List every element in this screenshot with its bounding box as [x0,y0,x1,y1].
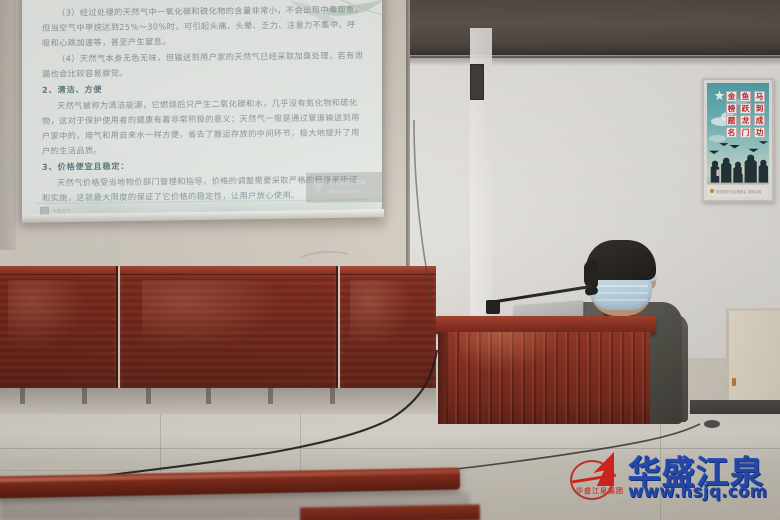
wall-socket[interactable] [470,64,484,100]
projection-screen: 天然气的特性 （3）经过处理的天然气中一氧化碳和硫化物的含量非常小，不会出现中毒… [22,0,382,221]
poster-calligraphy: 金 榜 题 名 鱼 跃 龙 门 马 到 成 功 [726,91,765,138]
projector-osd-overlay: 打开投影机菜单 确认键 / 取消键 [306,172,382,203]
scene-photo: 天然气的特性 （3）经过处理的天然气中一氧化碳和硫化物的含量非常小，不会出现中毒… [0,0,780,520]
poster-char: 鱼 [740,91,751,102]
door-handle-icon[interactable] [732,378,736,386]
graduates-silhouette-icon [707,138,769,184]
slide-paragraph-4: （4）天然气本身无色无味，但输送到用户家的天然气已经采取加臭处理，若有泄漏也会比… [42,48,364,82]
poster-char: 马 [754,91,765,102]
poster-char: 到 [754,103,765,114]
poster-char: 门 [740,127,751,138]
projector-menu-icon [312,180,325,195]
wall-poster: 金 榜 题 名 鱼 跃 龙 门 马 到 成 功 [707,83,769,197]
poster-char: 功 [754,127,765,138]
poster-column: 鱼 跃 龙 门 [740,91,751,138]
caption-bullet-icon [710,189,714,193]
wall-poster-frame: 金 榜 题 名 鱼 跃 龙 门 马 到 成 功 [702,78,774,202]
poster-char: 名 [726,127,737,138]
osd-line-2: 确认键 / 取消键 [330,188,366,194]
poster-char: 成 [754,115,765,126]
poster-column: 马 到 成 功 [754,91,765,138]
watermark: 华盛江泉集团 华盛江泉 www.hsjq.com [566,446,778,512]
left-wall-edge [0,0,16,250]
slide-body-2: 天然气被称为清洁能源，它燃烧后只产生二氧化碳和水，几乎没有氮化物和硫化物，这对于… [42,95,364,159]
company-logo-icon: 华盛江泉集团 [566,450,628,504]
watermark-url: www.hsjq.com [628,482,767,501]
poster-char: 题 [726,115,737,126]
floor-tile-line [300,414,301,474]
foreground-bench-second [300,504,480,520]
poster-char: 龙 [740,115,751,126]
table-panel [340,266,436,388]
star-icon [714,90,725,101]
ceiling-beam [408,0,780,58]
poster-char: 金 [726,91,737,102]
presenter-hair-side [584,260,598,288]
poster-char: 跃 [740,103,751,114]
poster-char: 榜 [726,103,737,114]
osd-line-1: 打开投影机菜单 [330,180,366,186]
table-panel [120,266,338,388]
podium-left-edge [438,332,446,424]
wall-baseboard [690,400,780,414]
logo-subtext: 华盛江泉集团 [576,486,624,496]
floor-tile-line [160,414,161,474]
beam-shadow [408,56,780,66]
poster-caption-text: 祝愿同学们金榜题名 前程似锦 [716,189,761,194]
side-door[interactable] [726,308,780,403]
speaker-podium [438,316,654,424]
table-panel [0,266,118,388]
slide-paragraph-3: （3）经过处理的天然气中一氧化碳和硫化物的含量非常小，不会出现中毒现象，但当空气… [42,2,364,51]
audience-table-row [0,266,436,414]
poster-caption-bar: 祝愿同学们金榜题名 前程似锦 [707,184,769,197]
face-mask [590,276,652,310]
poster-column: 金 榜 题 名 [726,91,737,138]
podium-front [444,332,650,424]
